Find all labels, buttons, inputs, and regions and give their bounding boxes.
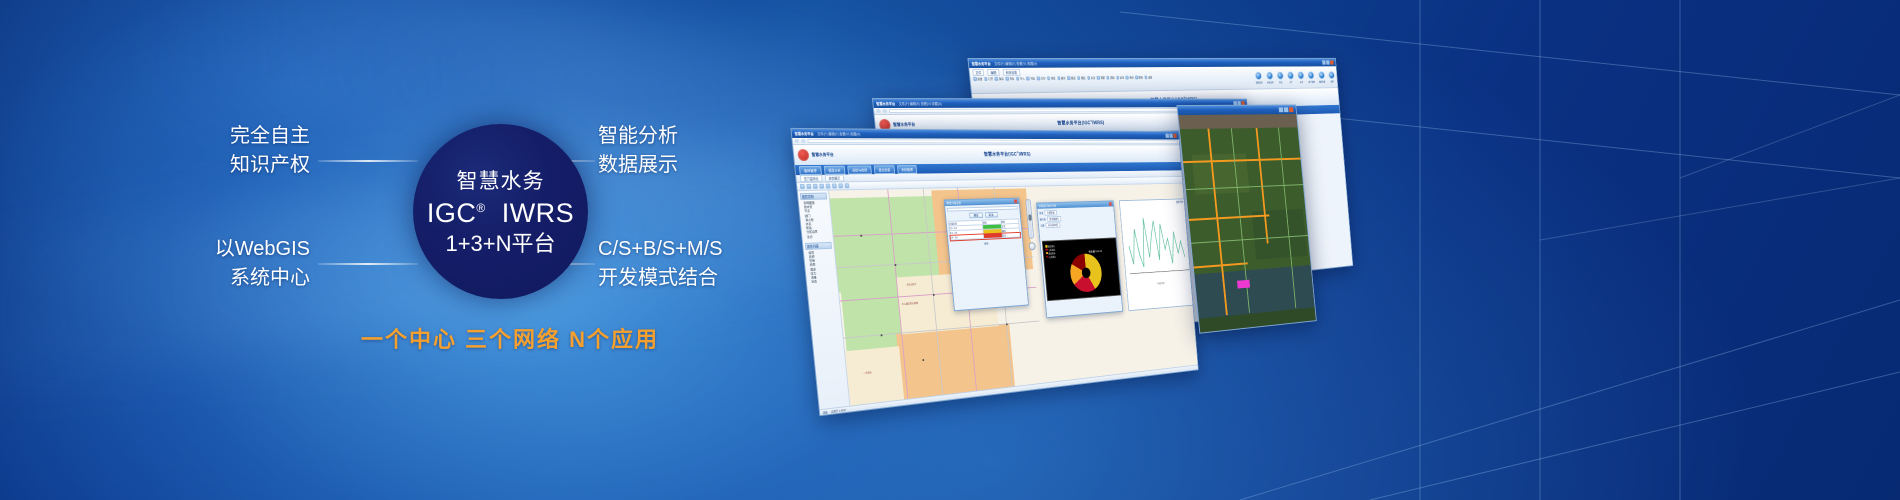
- window-mid-title: 智慧水务平台: [876, 101, 895, 106]
- measure-icon: [1097, 76, 1100, 79]
- close-icon: [1173, 134, 1177, 138]
- legend-table: 分段区间 颜色 说明 0.0 - 0.2 正常: [948, 218, 1020, 240]
- area-icon: [1106, 76, 1109, 79]
- company-logo-icon: [797, 149, 809, 161]
- nav-item-1[interactable]: 模型分析: [823, 165, 845, 174]
- layers-icon: [1077, 76, 1080, 79]
- stat-dialog-title: 管网运行统计分析: [1039, 204, 1057, 208]
- banner-root: 完全自主 知识产权 以WebGIS 系统中心 智能分析 数据展示 C/S+B/S…: [0, 0, 1900, 500]
- stat-date-label: 日期: [1040, 224, 1044, 228]
- full-extent-icon[interactable]: [826, 184, 831, 189]
- label-bottom-left-line1: 以WebGIS: [170, 235, 310, 264]
- settings-icon: [1144, 76, 1147, 79]
- stat-selector-value-2[interactable]: 供水量统计: [1047, 216, 1061, 222]
- cancel-button[interactable]: 取消: [985, 212, 998, 218]
- locate-icon: [1116, 76, 1119, 79]
- hub-registered-icon: ®: [476, 201, 485, 215]
- ribbon-cmd-16[interactable]: 刷新: [1135, 76, 1143, 80]
- map-label-0: 供水分区A: [907, 282, 917, 286]
- zoom-slider-knob[interactable]: [1028, 214, 1032, 220]
- open-icon: [984, 77, 988, 81]
- window-front-brandbar: 智慧水务平台 智慧水务平台(IGC®IWRS): [793, 145, 1181, 165]
- pie-legend-item-3: 公共用水: [1046, 255, 1056, 259]
- export-icon: [1026, 77, 1029, 80]
- query-icon: [1126, 76, 1129, 79]
- selected-area-highlight: [1237, 280, 1250, 289]
- window-mid-page-title: 智慧水务平台(IGC®IWRS): [1057, 119, 1104, 126]
- forward-icon[interactable]: [882, 109, 887, 113]
- hub-platform: 1+3+N平台: [445, 230, 555, 259]
- window-mid-brand-name: 智慧水务平台: [893, 123, 915, 128]
- measure-icon[interactable]: [832, 183, 837, 188]
- water-meter-icon: [1297, 72, 1304, 80]
- preview-icon: [1047, 77, 1050, 80]
- window-satellite[interactable]: [1176, 104, 1316, 333]
- stats-icon: [1057, 77, 1060, 80]
- window-front-body: 图层控制 管网图层 供水管 节点 阀门 消火栓 水表 泵站 分区边界 注记 属性…: [798, 184, 1198, 412]
- ribbon-cmd-13[interactable]: 面积: [1106, 76, 1114, 80]
- print-icon[interactable]: [845, 183, 850, 188]
- ribbon-tab-1[interactable]: 编辑: [987, 69, 999, 76]
- close-icon: [1330, 60, 1334, 64]
- minimize-icon: [1279, 107, 1284, 112]
- infographic: 完全自主 知识产权 以WebGIS 系统中心 智能分析 数据展示 C/S+B/S…: [0, 0, 820, 500]
- bigicon-6[interactable]: 巡检管理: [1318, 71, 1325, 83]
- annotate-icon: [1087, 76, 1090, 79]
- stat-dialog-body: 区域 全部区域 统计项 供水量统计 日期 2024年05月: [1037, 206, 1115, 232]
- stat-selector-label-1: 区域: [1039, 211, 1043, 215]
- print-icon: [1037, 77, 1040, 80]
- pointer-icon[interactable]: [800, 184, 805, 189]
- stat-selector-label-2: 统计项: [1040, 217, 1046, 221]
- confirm-button[interactable]: 确定: [970, 212, 983, 218]
- ribbon-cmd-17[interactable]: 设置: [1144, 75, 1152, 79]
- legend-swatch-red: [984, 233, 1002, 238]
- line-chart-panel: 趋势分析 时间(小时): [1119, 198, 1197, 311]
- label-top-right-line1: 智能分析: [598, 122, 678, 151]
- close-icon[interactable]: [1014, 200, 1017, 204]
- label-top-left-line1: 完全自主: [180, 122, 310, 151]
- report-icon: [1067, 76, 1070, 79]
- label-top-left-line2: 知识产权: [180, 151, 310, 180]
- hub-circle: 智慧水务 IGC® IWRS 1+3+N平台: [413, 124, 588, 299]
- layer-tree-header: 图层控制: [800, 193, 827, 201]
- hub-product-name: IGC® IWRS: [427, 198, 574, 229]
- ribbon-cmd-7[interactable]: 预览: [1047, 76, 1056, 80]
- label-top-right: 智能分析 数据展示: [598, 122, 678, 180]
- pie-legend: 居民用水 工业用水 商业用水 公共用水: [1045, 245, 1056, 259]
- status-scale: 比例尺 1:5000: [831, 408, 846, 414]
- nav-item-4[interactable]: 系统管理: [897, 165, 918, 174]
- ribbon-tab-2[interactable]: 系统设置: [1002, 69, 1020, 76]
- water-plant-icon: [1287, 72, 1294, 80]
- screenshot-stack: 智慧水务平台 文件(F) 编辑(E) 查看(V) 收藏(A) 文件 编辑 系统设…: [790, 0, 1430, 500]
- window-front-menu[interactable]: 文件(F) 编辑(E) 查看(V) 收藏(A): [817, 131, 861, 136]
- status-ready: 就绪: [823, 410, 828, 414]
- ribbon-cmd-11[interactable]: 标注: [1087, 76, 1095, 80]
- ribbon-cmd-0[interactable]: 新建: [973, 77, 982, 81]
- save-as-icon: [1005, 77, 1009, 80]
- stat-date-value[interactable]: 2024年05月: [1046, 222, 1061, 228]
- legend-note-2: 超压: [1002, 232, 1020, 237]
- window-front-title: 智慧水务平台: [794, 131, 813, 136]
- label-bottom-left: 以WebGIS 系统中心: [170, 235, 310, 293]
- bigicon-5[interactable]: 阀门管理: [1308, 71, 1315, 83]
- back-icon[interactable]: [794, 139, 799, 143]
- ribbon-tab-0[interactable]: 文件: [972, 69, 984, 76]
- forward-icon[interactable]: [801, 139, 806, 143]
- window-front-brand-name: 智慧水务平台: [811, 153, 833, 157]
- ribbon-cmd-5[interactable]: 导出: [1026, 77, 1035, 81]
- bigicon-7[interactable]: 报警: [1328, 71, 1335, 83]
- bigicon-0[interactable]: 管网监测: [1255, 72, 1263, 84]
- pie-chart-panel: 居民用水 工业用水 商业用水 公共用水 供水量 512.23: [1042, 237, 1121, 301]
- nav-item-3[interactable]: 营业收费: [874, 165, 895, 174]
- label-bottom-right: C/S+B/S+M/S 开发模式结合: [598, 235, 723, 293]
- window-back-controls[interactable]: [1322, 60, 1334, 64]
- window-front-page-title: 智慧水务平台(IGC®IWRS): [984, 151, 1031, 158]
- legend-dialog-body: 确定 取消 分段区间 颜色 说明 0.0 - 0.2: [945, 204, 1023, 249]
- legend-footer[interactable]: 应用: [950, 240, 1021, 247]
- window-front-controls[interactable]: [1165, 134, 1176, 138]
- label-top-left: 完全自主 知识产权: [180, 122, 310, 180]
- close-icon[interactable]: [1109, 202, 1112, 206]
- save-icon: [995, 77, 999, 81]
- ribbon-cmd-3[interactable]: 另存: [1005, 77, 1014, 81]
- import-icon: [1016, 77, 1019, 80]
- window-back-title: 智慧水务平台: [971, 61, 990, 66]
- new-icon: [973, 77, 977, 81]
- connector-top-left: [318, 160, 418, 162]
- pump-station-icon: [1277, 72, 1284, 80]
- pipeline-monitor-icon: [1255, 72, 1262, 80]
- zoom-in-icon[interactable]: [813, 184, 818, 189]
- ribbon-cmd-9[interactable]: 报表: [1067, 76, 1076, 80]
- label-bottom-left-line2: 系统中心: [170, 264, 310, 293]
- ribbon-cmd-15[interactable]: 查询: [1126, 76, 1134, 80]
- nav-item-2[interactable]: 巡检与抢修: [847, 165, 872, 174]
- nav-item-0[interactable]: 管网管理: [799, 165, 822, 174]
- ribbon-cmd-1[interactable]: 打开: [984, 77, 993, 81]
- back-icon[interactable]: [876, 109, 881, 113]
- window-satellite-controls[interactable]: [1279, 107, 1294, 112]
- ribbon-cmd-4[interactable]: 导入: [1016, 77, 1025, 81]
- ribbon-cmd-2[interactable]: 保存: [995, 77, 1004, 81]
- pan-icon[interactable]: [806, 184, 811, 189]
- window-mid-menu[interactable]: 文件(F) 编辑(E) 查看(V) 收藏(A): [898, 101, 941, 106]
- ribbon-cmd-6[interactable]: 打印: [1037, 76, 1046, 80]
- line-chart-svg: [1120, 204, 1193, 283]
- inspection-icon: [1318, 71, 1325, 79]
- refresh-icon: [1135, 76, 1138, 79]
- tagline: 一个中心 三个网络 N个应用: [300, 322, 720, 354]
- label-top-right-line2: 数据展示: [598, 151, 678, 180]
- label-bottom-right-line1: C/S+B/S+M/S: [598, 235, 723, 264]
- url-input[interactable]: [807, 139, 1178, 144]
- hub-igc: IGC: [427, 198, 477, 228]
- ribbon-big-icons[interactable]: 管网监测 水质监测 泵站 水厂 水表 阀门管理 巡检管理 报警: [1255, 71, 1335, 84]
- ribbon-cmd-14[interactable]: 定位: [1116, 76, 1124, 80]
- window-front[interactable]: 智慧水务平台 文件(F) 编辑(E) 查看(V) 收藏(A) 智慧水务平台 智慧…: [790, 128, 1198, 416]
- stat-dialog[interactable]: 管网运行统计分析 区域 全部区域 统计项 供水量统计: [1036, 200, 1123, 318]
- hub-title: 智慧水务: [457, 165, 545, 195]
- close-icon: [1289, 107, 1294, 112]
- identify-icon[interactable]: [838, 183, 843, 188]
- bigicon-3[interactable]: 水厂: [1287, 72, 1294, 84]
- valve-icon: [1308, 71, 1315, 79]
- bigicon-1[interactable]: 水质监测: [1266, 72, 1274, 84]
- connector-bottom-left: [318, 263, 418, 265]
- ribbon-cmd-8[interactable]: 统计: [1057, 76, 1066, 80]
- subnav-item-0[interactable]: 压力监测点: [800, 175, 823, 182]
- bigicon-4[interactable]: 水表: [1297, 72, 1304, 84]
- stat-selector-value-1[interactable]: 全部区域: [1044, 210, 1056, 216]
- window-back-menu[interactable]: 文件(F) 编辑(E) 查看(V) 收藏(A): [994, 61, 1037, 66]
- subnav-item-1[interactable]: 综合展示: [825, 175, 844, 182]
- attr-node-7[interactable]: 状态: [809, 278, 836, 284]
- tree-node-8[interactable]: 注记: [804, 234, 831, 239]
- legend-dialog[interactable]: 属性分段设置 确定 取消 分段区间: [944, 198, 1029, 312]
- pan-navigation-pad[interactable]: [1028, 242, 1035, 250]
- label-bottom-right-line2: 开发模式结合: [598, 264, 723, 293]
- satellite-map-canvas[interactable]: [1178, 114, 1316, 333]
- pie-chart-value: 供水量 512.23: [1088, 249, 1102, 253]
- legend-dialog-title: 属性分段设置: [946, 201, 961, 205]
- water-quality-icon: [1266, 72, 1273, 80]
- zoom-out-icon[interactable]: [819, 184, 824, 189]
- attr-list-header: 属性列表: [805, 242, 832, 250]
- ribbon-cmd-10[interactable]: 图层: [1077, 76, 1086, 80]
- alarm-icon: [1328, 71, 1335, 79]
- maximize-icon: [1284, 107, 1289, 112]
- hub-iwrs: IWRS: [502, 198, 575, 228]
- ribbon-cmd-12[interactable]: 测距: [1097, 76, 1105, 80]
- legend-range-2: 0.4 - 0.6: [950, 234, 984, 240]
- bigicon-2[interactable]: 泵站: [1277, 72, 1284, 84]
